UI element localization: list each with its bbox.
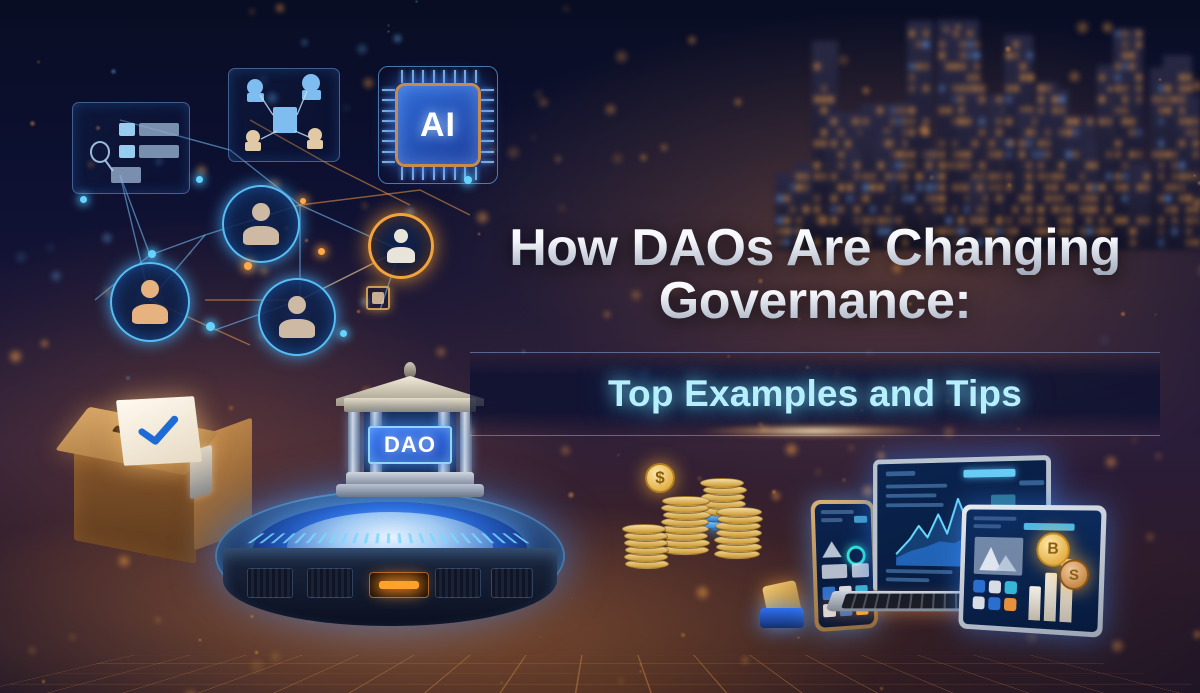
- skyline-window: [1039, 97, 1043, 102]
- skyline-window: [1145, 185, 1149, 190]
- city-skyline: [780, 0, 1200, 250]
- bokeh-dot: [733, 97, 743, 107]
- skyline-window: [1067, 152, 1071, 157]
- skyline-window: [1053, 97, 1057, 102]
- skyline-window: [1194, 240, 1198, 245]
- chart-triangle-icon: [821, 540, 843, 559]
- link-dot: [80, 196, 87, 203]
- skyline-window: [978, 207, 982, 212]
- skyline-window: [1123, 163, 1127, 168]
- skyline-window: [1116, 174, 1120, 179]
- skyline-window: [1123, 86, 1127, 91]
- skyline-window: [879, 185, 883, 190]
- coin-stack-2: [622, 515, 668, 569]
- skyline-window: [1027, 174, 1031, 179]
- skyline-window: [910, 163, 914, 168]
- coin: [700, 478, 744, 488]
- skyline-window: [1123, 97, 1127, 102]
- skyline-window: [947, 163, 951, 168]
- skyline-window: [1123, 42, 1127, 47]
- skyline-window: [924, 86, 928, 91]
- skyline-window: [1180, 174, 1184, 179]
- skyline-window: [1027, 130, 1031, 135]
- skyline-window: [1088, 119, 1092, 124]
- skyline-window: [1060, 108, 1064, 113]
- bokeh-dot: [813, 467, 823, 477]
- skyline-window: [1166, 196, 1170, 201]
- skyline-window: [1137, 152, 1141, 157]
- skyline-window: [832, 119, 836, 124]
- skyline-window: [1116, 108, 1120, 113]
- bokeh-dot: [771, 489, 777, 495]
- skyline-window: [990, 174, 994, 179]
- skyline-window: [968, 42, 972, 47]
- skyline-window: [1028, 53, 1032, 58]
- skyline-window: [1039, 86, 1043, 91]
- skyline-window: [1130, 152, 1134, 157]
- skyline-window: [815, 64, 819, 69]
- tablet-app-icon[interactable]: [972, 596, 984, 609]
- bokeh-dot: [1103, 454, 1119, 470]
- skyline-window: [1100, 119, 1104, 124]
- skyline-window: [822, 130, 826, 135]
- skyline-window: [864, 119, 868, 124]
- skyline-window: [1053, 185, 1057, 190]
- skyline-window: [871, 207, 875, 212]
- skyline-window: [897, 119, 901, 124]
- skyline-window: [959, 119, 963, 124]
- skyline-window: [1194, 207, 1198, 212]
- skyline-window: [940, 174, 944, 179]
- skyline-window: [980, 163, 984, 168]
- skyline-window: [797, 185, 801, 190]
- skyline-window: [975, 53, 979, 58]
- skyline-window: [997, 196, 1001, 201]
- phone-ui-card: [822, 564, 848, 579]
- skyline-window: [886, 141, 890, 146]
- dao-sign-label: DAO: [384, 432, 436, 458]
- bokeh-dot: [154, 616, 162, 624]
- dashboard-progress: [963, 469, 1015, 478]
- skyline-window: [910, 152, 914, 157]
- skyline-window: [886, 174, 890, 179]
- platform-vent: [435, 568, 481, 598]
- bokeh-dot: [882, 445, 885, 448]
- skyline-window: [940, 163, 944, 168]
- skyline-window: [855, 174, 859, 179]
- skyline-window: [853, 119, 857, 124]
- skyline-window: [897, 108, 901, 113]
- skyline-window: [839, 152, 843, 157]
- skyline-window: [1187, 240, 1191, 245]
- skyline-window: [1053, 207, 1057, 212]
- dashboard-row: [886, 569, 953, 574]
- skyline-window: [1021, 64, 1025, 69]
- subtitle: Top Examples and Tips: [608, 373, 1022, 415]
- block-node-icon: [366, 286, 390, 310]
- skyline-window: [917, 42, 921, 47]
- skyline-window: [968, 53, 972, 58]
- skyline-window: [1116, 141, 1120, 146]
- bank-temple-icon[interactable]: DAO: [330, 348, 490, 528]
- skyline-window: [1153, 97, 1157, 102]
- skyline-window: [1145, 174, 1149, 179]
- skyline-window: [1180, 97, 1184, 102]
- bokeh-dot: [1130, 436, 1138, 444]
- skyline-window: [1007, 152, 1011, 157]
- skyline-window: [804, 185, 808, 190]
- skyline-window: [1014, 86, 1018, 91]
- skyline-window: [1067, 207, 1071, 212]
- skyline-window: [855, 163, 859, 168]
- skyline-window: [940, 207, 944, 212]
- skyline-window: [927, 185, 931, 190]
- temple-plinth: [336, 484, 484, 497]
- skyline-window: [1180, 108, 1184, 113]
- skyline-window: [1027, 207, 1031, 212]
- skyline-window: [997, 130, 1001, 135]
- skyline-window: [959, 152, 963, 157]
- light-flare: [700, 424, 930, 438]
- skyline-window: [1123, 119, 1127, 124]
- skyline-window: [1020, 196, 1024, 201]
- skyline-window: [959, 163, 963, 168]
- skyline-window: [910, 86, 914, 91]
- avatar-node-4[interactable]: [368, 213, 434, 279]
- bokeh-dot: [610, 151, 625, 166]
- skyline-window: [1137, 86, 1141, 91]
- skyline-window: [832, 196, 836, 201]
- skyline-window: [778, 196, 782, 201]
- list-panel[interactable]: [72, 102, 190, 194]
- skyline-window: [855, 207, 859, 212]
- bokeh-dot: [1195, 262, 1200, 279]
- skyline-window: [1123, 185, 1127, 190]
- skyline-window: [1166, 185, 1170, 190]
- skyline-window: [1007, 86, 1011, 91]
- list-row-bar: [139, 145, 179, 158]
- skyline-window: [968, 75, 972, 80]
- skyline-window: [1028, 75, 1032, 80]
- tablet-app-icon[interactable]: [973, 580, 985, 593]
- person-icon: [241, 203, 281, 246]
- skyline-window: [910, 196, 914, 201]
- skyline-window: [1187, 207, 1191, 212]
- link-dot: [318, 248, 325, 255]
- skyline-window: [961, 53, 965, 58]
- skyline-window: [947, 108, 951, 113]
- skyline-window: [1107, 119, 1111, 124]
- skyline-window: [804, 207, 808, 212]
- tablet-bar: [1044, 573, 1057, 622]
- skyline-window: [966, 163, 970, 168]
- skyline-window: [1153, 152, 1157, 157]
- skyline-window: [829, 97, 833, 102]
- bokeh-dot: [198, 638, 202, 642]
- skyline-window: [940, 42, 944, 47]
- skyline-window: [1194, 119, 1198, 124]
- skyline-window: [959, 86, 963, 91]
- tablet-app-icon[interactable]: [988, 597, 1001, 610]
- bokeh-dot: [680, 632, 686, 638]
- dollar-coin-icon: $: [645, 463, 675, 493]
- skyline-window: [968, 31, 972, 36]
- bokeh-dot: [68, 632, 77, 641]
- skyline-window: [910, 108, 914, 113]
- tablet-ui-row: [974, 516, 1017, 521]
- skyline-window: [815, 207, 819, 212]
- skyline-window: [1180, 141, 1184, 146]
- skyline-window: [940, 141, 944, 146]
- skyline-window: [910, 64, 914, 69]
- skyline-window: [1194, 130, 1198, 135]
- skyline-window: [1166, 86, 1170, 91]
- grid-floor: [0, 655, 1200, 693]
- skyline-window: [959, 185, 963, 190]
- skyline-window: [1087, 185, 1091, 190]
- skyline-window: [997, 174, 1001, 179]
- skyline-window: [1166, 207, 1170, 212]
- banner-hero: AI: [0, 0, 1200, 693]
- skyline-window: [1194, 174, 1198, 179]
- skyline-window: [1123, 108, 1127, 113]
- skyline-window: [980, 130, 984, 135]
- coin: [622, 524, 666, 534]
- skyline-window: [1130, 53, 1134, 58]
- ai-chip-icon[interactable]: AI: [378, 66, 498, 184]
- platform-vent: [247, 568, 293, 598]
- skyline-window: [1187, 196, 1191, 201]
- skyline-window: [973, 86, 977, 91]
- tablet-screen: B S: [963, 509, 1102, 632]
- skyline-window: [1087, 163, 1091, 168]
- bokeh-dot: [797, 636, 800, 639]
- skyline-window: [1027, 141, 1031, 146]
- skyline-window: [1074, 119, 1078, 124]
- skyline-window: [1039, 174, 1043, 179]
- skyline-window: [815, 196, 819, 201]
- avatar-node-2[interactable]: [110, 262, 190, 342]
- mountain-chart-icon: [977, 543, 1019, 574]
- tablet-progress: [1024, 523, 1075, 531]
- link-dot: [206, 322, 215, 331]
- skyline-window: [839, 163, 843, 168]
- skyline-window: [1123, 53, 1127, 58]
- platform-body: [223, 548, 557, 626]
- avatar-node-1[interactable]: [222, 185, 300, 263]
- headline-line-2: Governance:: [470, 275, 1160, 328]
- platform-vent: [491, 568, 533, 598]
- skyline-window: [839, 207, 843, 212]
- coin: [662, 496, 710, 506]
- skyline-window: [897, 174, 901, 179]
- bokeh-dot: [617, 453, 620, 456]
- skyline-window: [815, 141, 819, 146]
- headline-line-1: How DAOs Are Changing: [470, 222, 1160, 275]
- skyline-window: [1187, 218, 1191, 223]
- skyline-window: [1074, 152, 1078, 157]
- platform-vent: [307, 568, 353, 598]
- skyline-window: [990, 141, 994, 146]
- tablet-app-icon[interactable]: [1004, 598, 1017, 612]
- phone-ui-row: [821, 518, 843, 522]
- skyline-window: [1187, 119, 1191, 124]
- tablet-app-icon[interactable]: [1004, 581, 1017, 594]
- skyline-window: [848, 196, 852, 201]
- skyline-window: [1039, 207, 1043, 212]
- skyline-window: [940, 196, 944, 201]
- link-dot: [244, 262, 252, 270]
- temple-finial: [404, 362, 416, 378]
- person-icon: [277, 296, 317, 339]
- platform-status-light: [369, 572, 429, 598]
- skyline-window: [924, 64, 928, 69]
- skyline-window: [910, 31, 914, 36]
- skyline-window: [961, 64, 965, 69]
- dashboard-row: [886, 577, 929, 582]
- skyline-window: [864, 185, 868, 190]
- bokeh-dot: [1192, 629, 1200, 640]
- skyline-window: [1137, 130, 1141, 135]
- skyline-window: [815, 163, 819, 168]
- dashboard-row: [886, 471, 915, 476]
- skyline-window: [1130, 119, 1134, 124]
- skyline-window: [1180, 163, 1184, 168]
- skyline-window: [1074, 130, 1078, 135]
- skyline-window: [1020, 152, 1024, 157]
- skyline-window: [990, 152, 994, 157]
- bokeh-dot: [686, 34, 698, 46]
- skyline-window: [959, 108, 963, 113]
- skyline-window: [980, 86, 984, 91]
- skyline-window: [1137, 31, 1141, 36]
- skyline-window: [980, 119, 984, 124]
- skyline-window: [910, 119, 914, 124]
- skyline-window: [1123, 174, 1127, 179]
- skyline-window: [1021, 75, 1025, 80]
- list-row-bar: [139, 123, 179, 136]
- org-chart-icon: [229, 69, 341, 163]
- list-row-marker: [119, 123, 135, 136]
- skyline-window: [832, 207, 836, 212]
- skyline-window: [1130, 130, 1134, 135]
- skyline-window: [1100, 75, 1104, 80]
- skyline-window: [1116, 86, 1120, 91]
- tablet-app-icon[interactable]: [989, 580, 1002, 593]
- skyline-window: [1039, 163, 1043, 168]
- bokeh-dot: [561, 4, 571, 14]
- skyline-window: [1116, 31, 1120, 36]
- skyline-window: [940, 86, 944, 91]
- skyline-window: [785, 196, 789, 201]
- org-chart-panel[interactable]: [228, 68, 340, 162]
- bokeh-dot: [639, 153, 648, 162]
- bokeh-dot: [694, 584, 711, 601]
- coin-stack-3: [714, 505, 762, 559]
- link-dot: [300, 198, 306, 204]
- skyline-window: [1053, 174, 1057, 179]
- dao-sign: DAO: [368, 426, 452, 464]
- link-dot: [148, 250, 156, 258]
- skyline-window: [832, 174, 836, 179]
- bokeh-dot: [603, 102, 618, 117]
- skyline-window: [864, 196, 868, 201]
- skyline-window: [804, 174, 808, 179]
- skyline-window: [973, 141, 977, 146]
- skyline-window: [1039, 141, 1043, 146]
- skyline-window: [990, 185, 994, 190]
- skyline-tower: [1177, 96, 1200, 250]
- skyline-window: [997, 185, 1001, 190]
- tablet-ui-row: [973, 524, 1001, 528]
- skyline-window: [1053, 108, 1057, 113]
- temple-entablature: [344, 398, 476, 412]
- skyline-window: [897, 163, 901, 168]
- skyline-window: [1187, 75, 1191, 80]
- skyline-window: [1166, 108, 1170, 113]
- skyline-window: [997, 152, 1001, 157]
- phone-ui-row: [821, 510, 854, 514]
- bokeh-dot: [559, 444, 572, 457]
- skyline-window: [1087, 196, 1091, 201]
- coin: [716, 507, 762, 517]
- skyline-window: [1137, 42, 1141, 47]
- skyline-window: [832, 141, 836, 146]
- skyline-window: [1067, 119, 1071, 124]
- avatar-node-3[interactable]: [258, 278, 336, 356]
- ballot-paper: [116, 396, 202, 466]
- skyline-window: [1039, 152, 1043, 157]
- skyline-window: [954, 64, 958, 69]
- bokeh-dot: [1153, 451, 1163, 461]
- skyline-window: [864, 174, 868, 179]
- skyline-window: [917, 174, 921, 179]
- skyline-window: [940, 185, 944, 190]
- skyline-window: [997, 119, 1001, 124]
- skyline-window: [940, 108, 944, 113]
- skyline-window: [878, 108, 882, 113]
- skyline-window: [1166, 97, 1170, 102]
- skyline-window: [1116, 185, 1120, 190]
- bokeh-dot: [567, 491, 574, 498]
- skyline-window: [1007, 141, 1011, 146]
- token-cube-base: [760, 608, 804, 628]
- token-coin-icon: S: [1059, 559, 1090, 591]
- skyline-window: [822, 108, 826, 113]
- skyline-window: [940, 152, 944, 157]
- skyline-window: [1014, 42, 1018, 47]
- skyline-window: [1138, 185, 1142, 190]
- skyline-window: [839, 130, 843, 135]
- bokeh-dot: [841, 477, 847, 483]
- bokeh-dot: [847, 444, 855, 452]
- tablet-bar: [1028, 586, 1041, 621]
- skyline-window: [1107, 207, 1111, 212]
- skyline-window: [1180, 196, 1184, 201]
- skyline-window: [927, 152, 931, 157]
- skyline-window: [910, 130, 914, 135]
- skyline-window: [1123, 196, 1127, 201]
- tablet[interactable]: B S: [958, 505, 1107, 638]
- link-dot: [464, 176, 472, 184]
- skyline-window: [1166, 152, 1170, 157]
- skyline-window: [1107, 152, 1111, 157]
- skyline-window: [1060, 97, 1064, 102]
- skyline-window: [839, 185, 843, 190]
- skyline-window: [1027, 185, 1031, 190]
- skyline-window: [966, 86, 970, 91]
- skyline-window: [848, 185, 852, 190]
